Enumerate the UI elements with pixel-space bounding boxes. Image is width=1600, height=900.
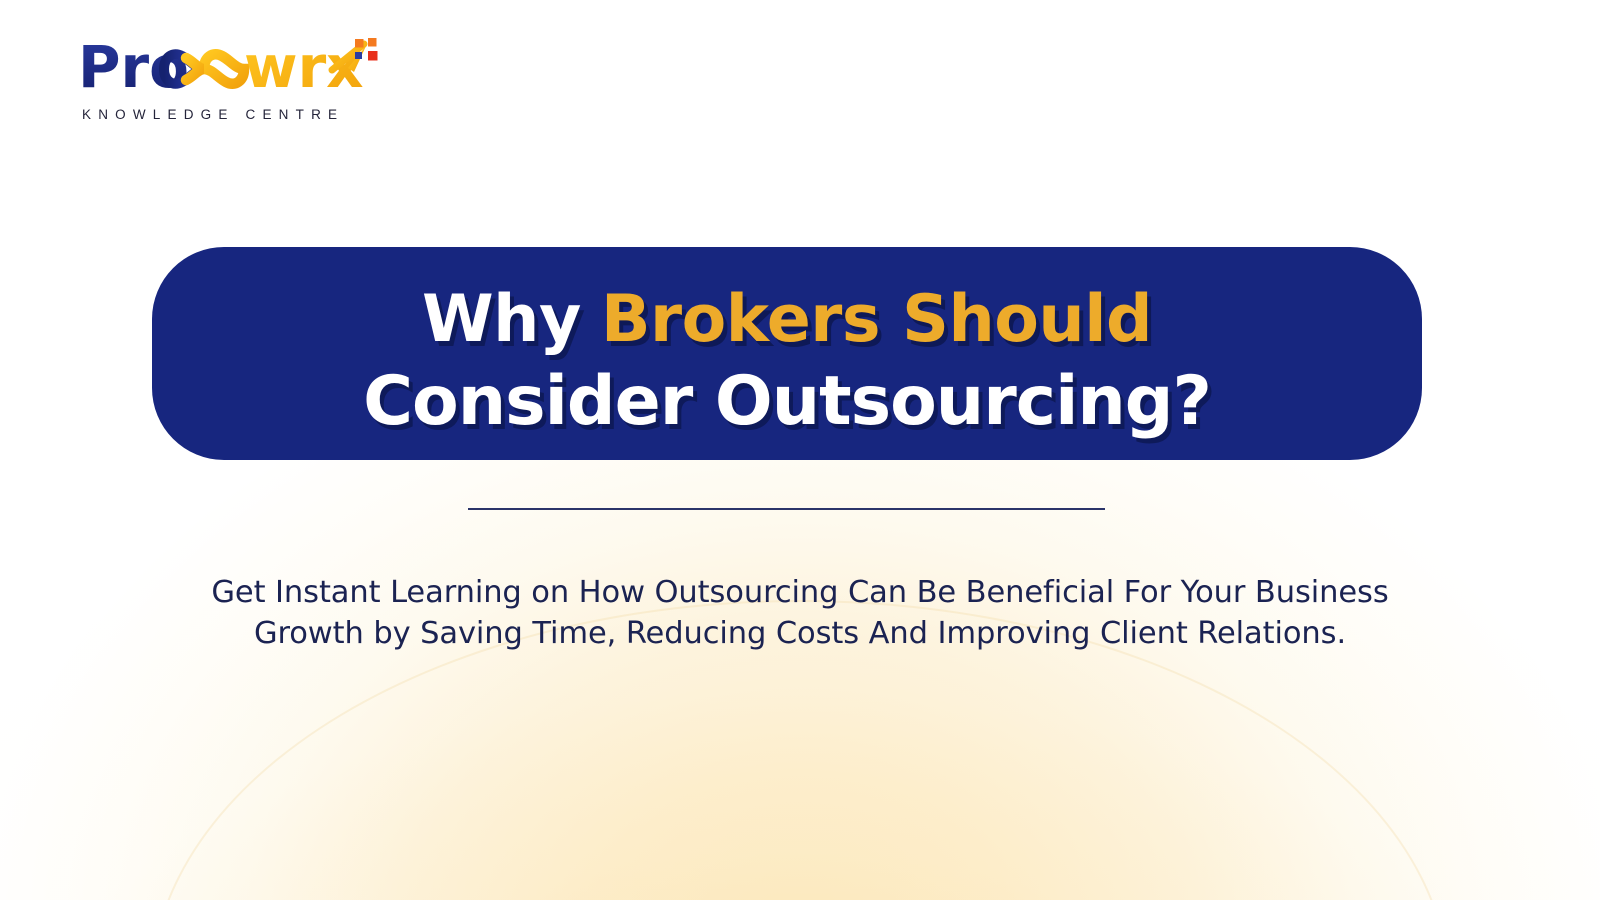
logo-text-wrx: wrx [244,38,364,100]
slide-canvas: Pro wrx [0,0,1600,900]
headline-line-1: Why Brokers Should [422,287,1152,352]
subtitle-text: Get Instant Learning on How Outsourcing … [120,572,1480,654]
section-divider [468,508,1105,510]
brand-logo[interactable]: Pro wrx [78,38,378,133]
logo-tagline: KNOWLEDGE CENTRE [82,107,344,122]
subtitle-line-2: Growth by Saving Time, Reducing Costs An… [120,613,1480,654]
headline-word-why: Why [422,282,581,357]
headline-text-consider-outsourcing: Consider Outsourcing? [363,362,1211,441]
logo-text-pro: Pro [78,38,189,100]
subtitle-line-1: Get Instant Learning on How Outsourcing … [120,572,1480,613]
headline-line-2: Consider Outsourcing? [363,368,1211,436]
logo-wordmark: Pro wrx [78,38,378,100]
headline-text-group: Why Brokers Should Consider Outsourcing? [152,262,1422,460]
headline-highlight-brokers-should: Brokers Should [601,282,1152,357]
